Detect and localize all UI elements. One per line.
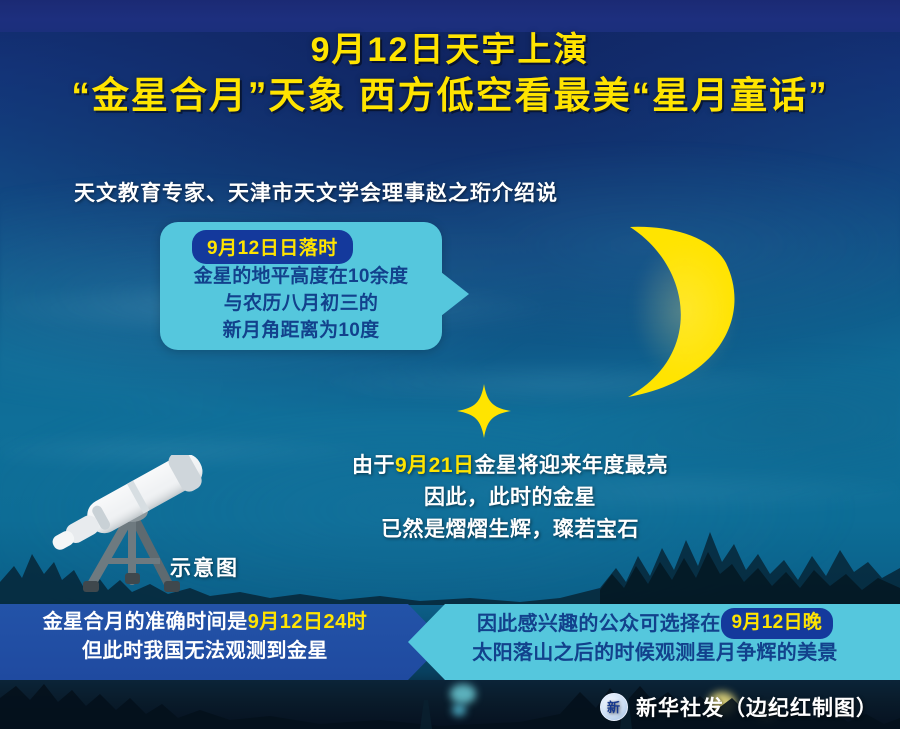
moon-glow (610, 210, 760, 410)
bubble-line-1: 金星的地平高度在10余度 (160, 264, 442, 291)
infographic-poster: 9月12日天宇上演 “金星合月”天象 西方低空看最美“星月童话” 天文教育专家、… (0, 0, 900, 729)
banner-right-line-2: 太阳落山之后的时候观测星月争辉的美景 (420, 639, 890, 668)
middle-line-1-highlight: 9月21日 (395, 454, 475, 477)
telescope-label: 示意图 (170, 552, 239, 582)
speech-bubble: 9月12日日落时 金星的地平高度在10余度 与农历八月初三的 新月角距离为10度 (160, 222, 442, 350)
banner-left-line-1: 金星合月的准确时间是9月12日24时 (0, 608, 410, 637)
speech-bubble-tail (441, 272, 469, 316)
bubble-date-badge: 9月12日日落时 (192, 230, 353, 264)
banner-right-date-badge: 9月12日晚 (721, 608, 834, 639)
bubble-body: 金星的地平高度在10余度 与农历八月初三的 新月角距离为10度 (160, 264, 442, 345)
venus-star-icon (455, 382, 513, 440)
middle-line-2: 因此，此时的金星 (300, 482, 720, 514)
banner-left-prefix: 金星合月的准确时间是 (43, 611, 248, 633)
middle-line-1-prefix: 由于 (352, 454, 395, 477)
middle-line-3: 已然是熠熠生辉，璨若宝石 (300, 514, 720, 546)
byline-text: 天文教育专家、天津市天文学会理事赵之珩介绍说 (74, 177, 558, 207)
middle-line-1: 由于9月21日金星将迎来年度最亮 (300, 450, 720, 482)
title-line-2: “金星合月”天象 西方低空看最美“星月童话” (0, 73, 900, 118)
bubble-line-3: 新月角距离为10度 (160, 318, 442, 345)
banner-right-text: 因此感兴趣的公众可选择在9月12日晚 太阳落山之后的时候观测星月争辉的美景 (420, 608, 890, 668)
page-title: 9月12日天宇上演 “金星合月”天象 西方低空看最美“星月童话” (0, 30, 900, 119)
credit-text: 新华社发（边纪红制图） (636, 692, 878, 722)
xinhua-logo-icon: 新 (600, 693, 628, 721)
banner-left-highlight: 9月12日24时 (248, 611, 368, 633)
bubble-line-2: 与农历八月初三的 (160, 291, 442, 318)
banner-left-text: 金星合月的准确时间是9月12日24时 但此时我国无法观测到金星 (0, 608, 410, 666)
banner-right-line-1: 因此感兴趣的公众可选择在9月12日晚 (420, 608, 890, 639)
banner-left-line-2: 但此时我国无法观测到金星 (0, 637, 410, 666)
header-band (0, 0, 900, 32)
title-line-1: 9月12日天宇上演 (0, 30, 900, 71)
middle-line-1-suffix: 金星将迎来年度最亮 (475, 454, 669, 477)
crescent-moon (600, 205, 790, 415)
credit-line: 新 新华社发（边纪红制图） (600, 692, 878, 722)
middle-paragraph: 由于9月21日金星将迎来年度最亮 因此，此时的金星 已然是熠熠生辉，璨若宝石 (300, 450, 720, 546)
banner-right-prefix: 因此感兴趣的公众可选择在 (477, 613, 721, 635)
